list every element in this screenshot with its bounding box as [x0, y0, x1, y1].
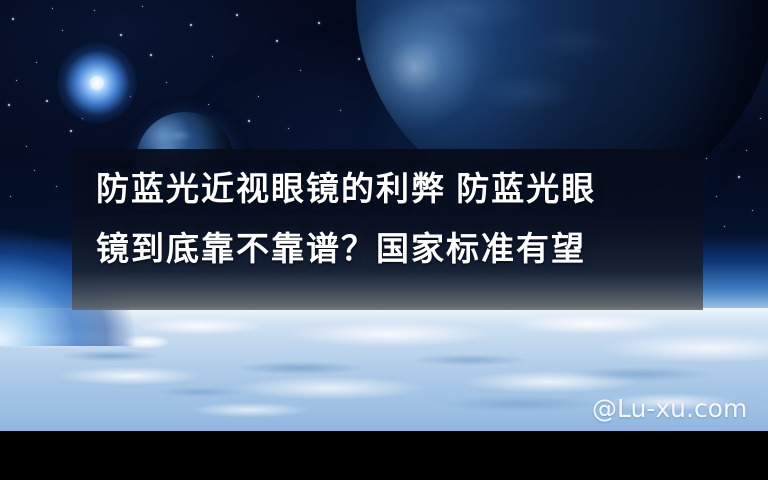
page-title: 防蓝光近视眼镜的利弊 防蓝光眼镜到底靠不靠谱？国家标准有望: [96, 160, 696, 280]
headline-line-2: 镜到底靠不靠谱？国家标准有望: [96, 232, 586, 268]
bottom-letterbox-bar: [0, 431, 768, 480]
site-watermark: @Lu-xu.com: [592, 394, 747, 423]
headline-line-1: 防蓝光近视眼镜的利弊 防蓝光眼: [96, 172, 596, 208]
banner-image: 防蓝光近视眼镜的利弊 防蓝光眼镜到底靠不靠谱？国家标准有望 @Lu-xu.com: [0, 0, 768, 480]
bright-star-icon: [90, 76, 104, 90]
